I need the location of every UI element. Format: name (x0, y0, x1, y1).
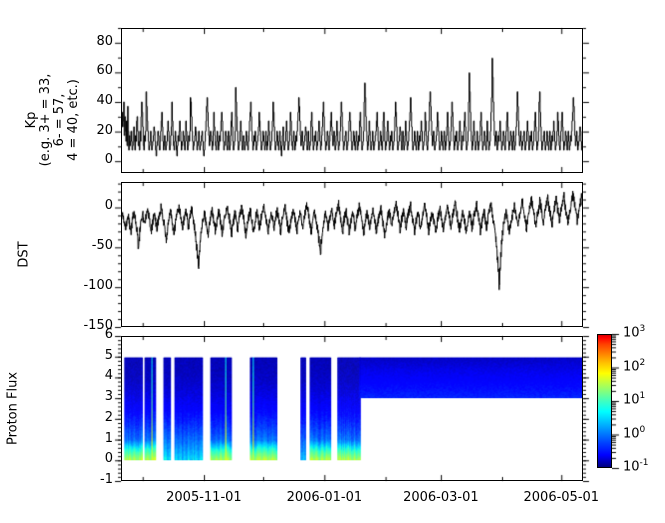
dst-axis-label: DST (17, 195, 32, 315)
colorbar-tick-label: 101 (623, 391, 645, 407)
dst-ytick-label: -100 (69, 278, 113, 293)
kp-ytick-label: 40 (69, 93, 113, 108)
dst-ytick-label: -50 (69, 238, 113, 253)
kp-axis-label-line2: (e.g. 3+ = 33, (39, 45, 53, 195)
kp-ytick-label: 80 (69, 34, 113, 49)
dst-axis-label-text: DST (17, 241, 32, 267)
kp-ytick-label: 20 (69, 123, 113, 138)
flux-ytick-label: 1 (69, 431, 113, 446)
flux-ytick-label: -1 (69, 472, 113, 487)
dst-ytick-label: 0 (69, 198, 113, 213)
flux-ytick-label: 6 (69, 327, 113, 342)
colorbar (597, 334, 612, 468)
flux-ytick-label: 4 (69, 368, 113, 383)
flux-spectrogram-canvas (122, 337, 582, 480)
colorbar-tick-label: 103 (623, 324, 645, 340)
dst-series-canvas (122, 183, 582, 326)
flux-plot-panel (121, 336, 583, 481)
kp-ytick-label: 60 (69, 63, 113, 78)
flux-axis-label-text: Proton Flux (6, 372, 21, 445)
flux-ytick-label: 2 (69, 410, 113, 425)
colorbar-gradient (597, 334, 612, 468)
kp-axis-label-line3: 6- = 57, (53, 45, 67, 195)
flux-ytick-label: 0 (69, 451, 113, 466)
colorbar-tick-label: 100 (623, 425, 645, 441)
colorbar-tick-label: 102 (623, 358, 645, 374)
flux-ytick-label: 5 (69, 348, 113, 363)
colorbar-tick-label: 10-1 (623, 458, 649, 474)
kp-series-canvas (122, 29, 582, 172)
figure-root: Kp (e.g. 3+ = 33, 6- = 57, 4 = 40, etc.)… (0, 0, 665, 523)
xaxis-tick-label: 2005-11-01 (156, 490, 252, 505)
kp-ytick-label: 0 (69, 152, 113, 167)
xaxis-tick-label: 2006-05-01 (513, 490, 609, 505)
xaxis-tick-label: 2006-01-01 (276, 490, 372, 505)
dst-plot-panel (121, 182, 583, 327)
kp-axis-label-line1: Kp (25, 45, 39, 195)
flux-axis-label: Proton Flux (6, 329, 21, 489)
kp-plot-panel (121, 28, 583, 173)
flux-ytick-label: 3 (69, 389, 113, 404)
xaxis-tick-label: 2006-03-01 (393, 490, 489, 505)
